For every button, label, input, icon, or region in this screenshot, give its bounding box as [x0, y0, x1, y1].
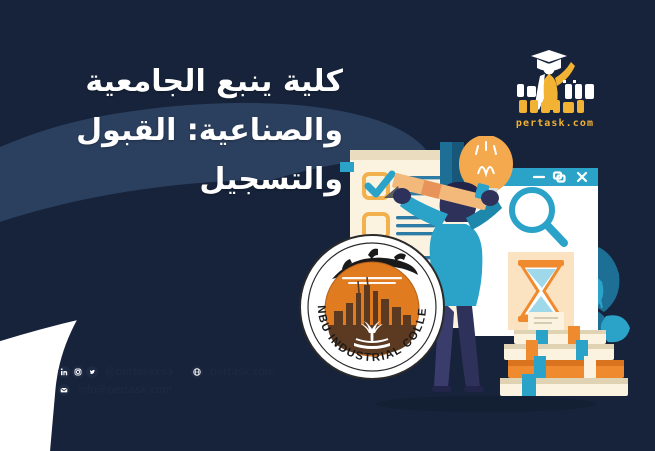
email-icon[interactable] [58, 384, 70, 396]
college-seal: YANBU INDUSTRIAL COLLEGE [298, 233, 446, 381]
social-icon-group [58, 366, 98, 378]
social-handle[interactable]: @pertaskksa [105, 366, 173, 378]
website-link[interactable]: pertask.com [210, 366, 275, 378]
email-address[interactable]: info@pertask.com [77, 384, 173, 396]
twitter-icon[interactable] [86, 366, 98, 378]
brand-logo[interactable]: pertask.com [499, 44, 611, 126]
contact-bar: @pertaskksa pertask.com info@ [58, 366, 275, 402]
poster-canvas: كلية ينبع الجامعية والصناعية: القبول وال… [0, 0, 655, 451]
web-icon[interactable] [191, 366, 203, 378]
headline: كلية ينبع الجامعية والصناعية: القبول وال… [43, 58, 343, 205]
contact-row-social: @pertaskksa pertask.com [58, 366, 275, 378]
instagram-icon[interactable] [72, 366, 84, 378]
headline-line-1: كلية ينبع الجامعية [43, 58, 343, 107]
brand-domain: pertask.com [499, 118, 611, 129]
graduate-figure-icon [499, 44, 611, 126]
linkedin-icon[interactable] [58, 366, 70, 378]
headline-line-3: والتسجيل [43, 156, 343, 205]
contact-row-email: info@pertask.com [58, 384, 275, 396]
headline-line-2: والصناعية: القبول [43, 107, 343, 156]
